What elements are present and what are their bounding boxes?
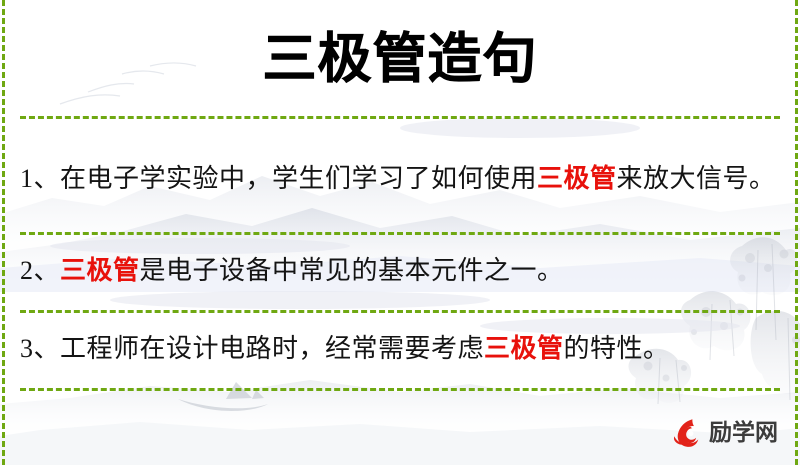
brand-watermark[interactable]: 励学网 [669,413,778,453]
keyword-highlight: 三极管 [60,256,140,285]
keyword-highlight: 三极管 [537,164,617,193]
flame-swirl-icon [669,416,703,450]
sentence-text: 1、在电子学实验中，学生们学习了如何使用三极管来放大信号。 [20,158,776,200]
title-band: 三极管造句 [0,0,800,116]
sentence-row: 3、工程师在设计电路时，经常需要考虑三极管的特性。 [20,310,782,388]
sentence-part: 是电子设备中常见的基本元件之一。 [140,256,564,285]
keyword-highlight: 三极管 [484,334,564,363]
separator-2 [20,232,780,235]
brand-name: 励学网 [709,422,778,445]
sentence-part: 来放大信号。 [617,164,776,193]
separator-4 [20,388,780,391]
page-title: 三极管造句 [263,31,538,85]
sentence-card: 三极管造句 1、在电子学实验中，学生们学习了如何使用三极管来放大信号。 2、三极… [0,0,800,465]
sentence-part: 的特性。 [564,334,670,363]
separator-3 [20,310,780,313]
sentence-part: 工程师在设计电路时，经常需要考虑 [60,334,484,363]
sentence-index: 1、 [20,164,60,193]
sentence-index: 3、 [20,334,60,363]
sentence-text: 3、工程师在设计电路时，经常需要考虑三极管的特性。 [20,328,670,370]
sentence-row: 2、三极管是电子设备中常见的基本元件之一。 [20,232,782,310]
sentence-row: 1、在电子学实验中，学生们学习了如何使用三极管来放大信号。 [20,116,782,232]
sentence-part: 在电子学实验中，学生们学习了如何使用 [60,164,537,193]
frame-border-left [2,0,5,465]
frame-border-right [795,0,798,465]
separator-1 [20,116,780,119]
sentence-text: 2、三极管是电子设备中常见的基本元件之一。 [20,250,564,292]
sentence-index: 2、 [20,256,60,285]
